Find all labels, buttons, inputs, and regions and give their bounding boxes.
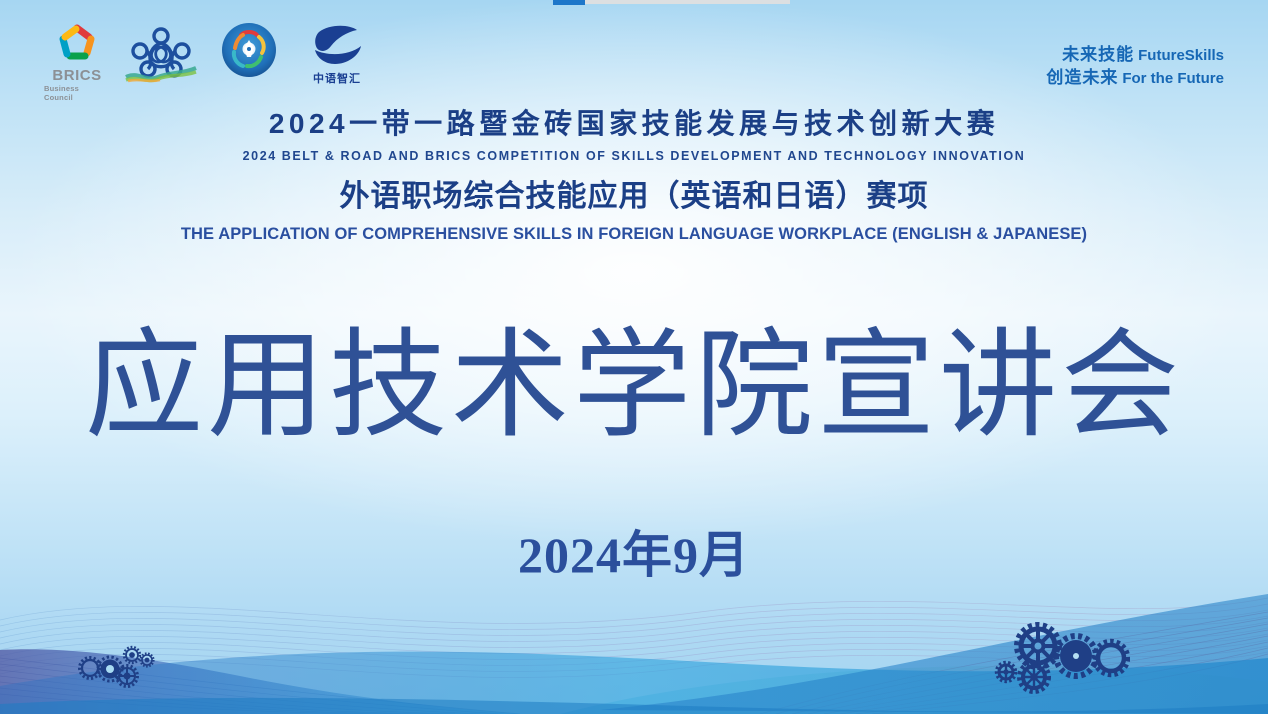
slide-progress-filled <box>553 0 585 5</box>
zhongyu-zhihui-label: 中语智汇 <box>313 70 361 86</box>
futureskills-line-2-cn: 创造未来 <box>1046 68 1118 87</box>
futureskills-branding: 未来技能FutureSkills 创造未来For the Future <box>1046 44 1224 90</box>
slide-progress-bar[interactable] <box>553 0 790 5</box>
futureskills-line-1-en: FutureSkills <box>1138 47 1224 64</box>
presentation-slide: BRICS Business Council <box>0 0 1268 714</box>
skills-development-emblem-logo <box>124 22 198 84</box>
page-title: 应用技术学院宣讲会 <box>0 326 1268 444</box>
futureskills-line-2: 创造未来For the Future <box>1046 67 1224 90</box>
sail-boat-mark-icon <box>307 22 367 68</box>
interlocking-circles-emblem-icon <box>124 22 198 84</box>
futureskills-line-1: 未来技能FutureSkills <box>1046 44 1224 67</box>
brics-logo-sub-text: Business Council <box>44 84 110 102</box>
event-title-cn: 外语职场综合技能应用（英语和日语）赛项 <box>0 171 1268 215</box>
brics-star-icon <box>52 22 102 66</box>
header-title-block: 2024一带一路暨金砖国家技能发展与技术创新大赛 2024 BELT & ROA… <box>0 106 1268 244</box>
brics-business-council-logo: BRICS Business Council <box>44 22 110 102</box>
futureskills-line-1-cn: 未来技能 <box>1062 45 1134 64</box>
partner-logo-row: BRICS Business Council <box>44 22 374 102</box>
competition-title-en: 2024 BELT & ROAD AND BRICS COMPETITION O… <box>25 148 1242 163</box>
gear-cluster-right <box>990 614 1130 694</box>
zhongyu-zhihui-logo: 中语智汇 <box>300 22 374 86</box>
futureskills-line-2-en: For the Future <box>1122 70 1224 87</box>
circular-skills-badge-icon <box>221 22 277 78</box>
event-title-en: THE APPLICATION OF COMPREHENSIVE SKILLS … <box>19 224 1249 244</box>
gear-cluster-left <box>76 638 166 693</box>
slide-progress-track <box>585 0 790 4</box>
brics-skills-circular-logo <box>212 22 286 78</box>
event-date: 2024年9月 <box>0 515 1268 587</box>
competition-title-cn: 2024一带一路暨金砖国家技能发展与技术创新大赛 <box>0 106 1268 141</box>
brics-logo-main-text: BRICS <box>52 67 101 84</box>
